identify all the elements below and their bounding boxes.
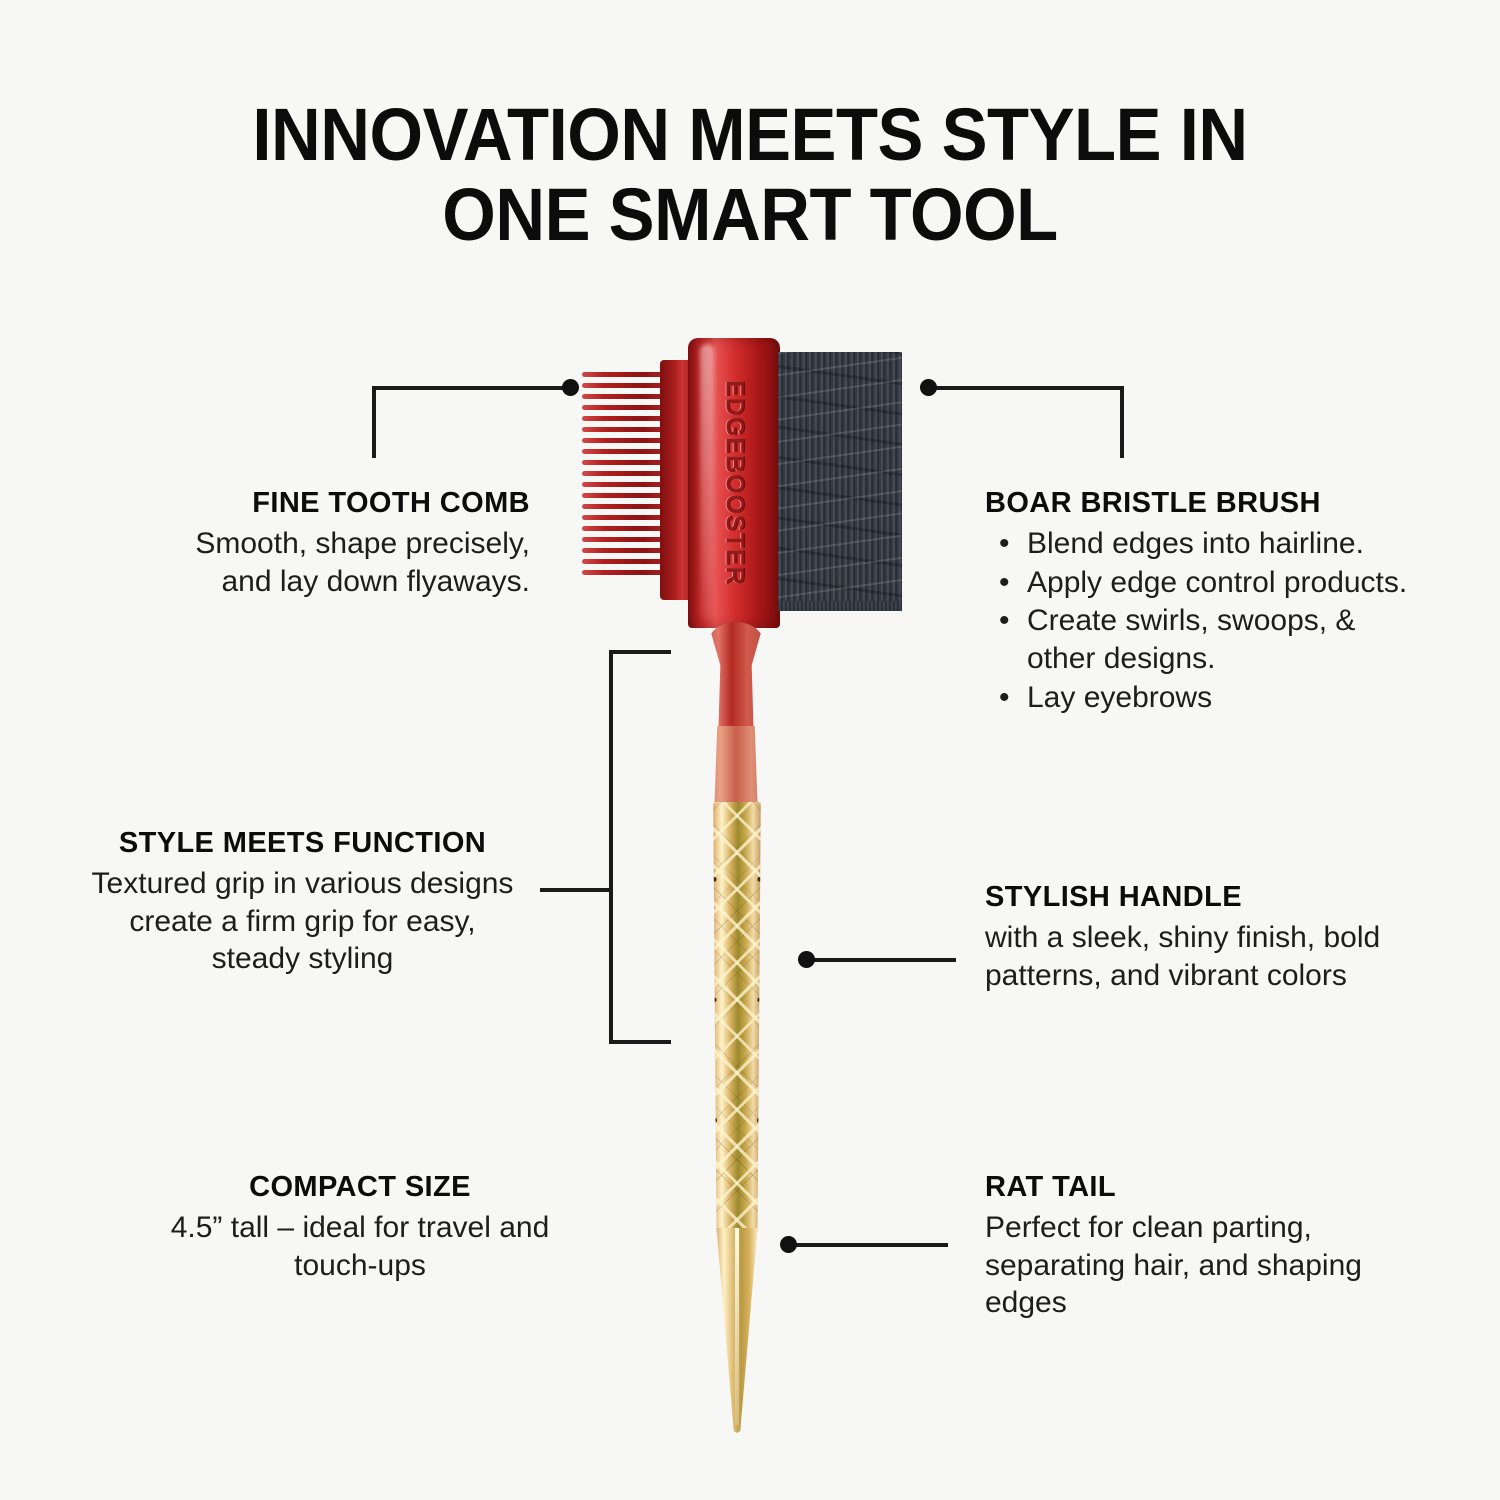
connector-line-rat-tail <box>788 1243 948 1247</box>
connector-bracket-style-function-stem <box>540 888 611 892</box>
brand-label: EDGEBOOSTER <box>720 380 749 585</box>
list-item-label: Create swirls, swoops, & other designs. <box>1027 604 1355 675</box>
handle-accent-dots <box>710 802 764 1232</box>
callout-body-rat-tail: Perfect for clean parting, separating ha… <box>985 1209 1385 1322</box>
bullet-icon: • <box>999 564 1010 602</box>
list-item: • Blend edges into hairline. <box>985 525 1425 563</box>
bullet-icon: • <box>999 679 1010 717</box>
list-item: • Lay eyebrows <box>985 679 1425 717</box>
callout-fine-tooth-comb: FINE TOOTH COMB Smooth, shape precisely,… <box>140 486 530 600</box>
connector-line-boar-bristle-vertical <box>1120 386 1124 458</box>
connector-bracket-style-function-bottom <box>609 1040 671 1044</box>
boar-bristles <box>778 352 902 607</box>
headline-line-2: ONE SMART TOOL <box>53 175 1448 255</box>
connector-bracket-style-function-top <box>609 650 671 654</box>
callout-body-compact-size: 4.5” tall – ideal for travel and touch-u… <box>160 1209 560 1285</box>
callout-style-meets-function: STYLE MEETS FUNCTION Textured grip in va… <box>85 826 520 978</box>
list-item-label: Lay eyebrows <box>1027 681 1212 714</box>
callout-title-style-meets-function: STYLE MEETS FUNCTION <box>85 826 520 861</box>
brush-body-red: EDGEBOOSTER <box>688 338 780 628</box>
callout-title-compact-size: COMPACT SIZE <box>160 1170 560 1205</box>
list-item: • Create swirls, swoops, & other designs… <box>985 602 1425 678</box>
handle-neck-upper <box>708 622 764 742</box>
page-title: INNOVATION MEETS STYLE IN ONE SMART TOOL <box>53 95 1448 255</box>
callout-title-rat-tail: RAT TAIL <box>985 1170 1385 1205</box>
callout-stylish-handle: STYLISH HANDLE with a sleek, shiny finis… <box>985 880 1385 994</box>
callout-body-style-meets-function: Textured grip in various designs create … <box>85 865 520 978</box>
connector-line-fine-tooth-comb-horizontal <box>372 386 568 390</box>
callout-title-boar-bristle-brush: BOAR BRISTLE BRUSH <box>985 486 1425 521</box>
callout-list-boar-bristle-brush: • Blend edges into hairline. • Apply edg… <box>985 525 1425 717</box>
product-image-edgebooster-brush: EDGEBOOSTER <box>560 330 960 1440</box>
infographic-canvas: INNOVATION MEETS STYLE IN ONE SMART TOOL <box>0 0 1500 1500</box>
connector-dot-boar-bristle <box>920 379 937 396</box>
callout-body-stylish-handle: with a sleek, shiny finish, bold pattern… <box>985 919 1385 995</box>
headline-line-1: INNOVATION MEETS STYLE IN <box>252 93 1247 176</box>
list-item-label: Apply edge control products. <box>1027 566 1407 599</box>
callout-title-fine-tooth-comb: FINE TOOTH COMB <box>140 486 530 521</box>
callout-title-stylish-handle: STYLISH HANDLE <box>985 880 1385 915</box>
connector-line-fine-tooth-comb-vertical <box>372 386 376 458</box>
textured-gold-handle <box>710 802 764 1232</box>
callout-boar-bristle-brush: BOAR BRISTLE BRUSH • Blend edges into ha… <box>985 486 1425 718</box>
callout-body-fine-tooth-comb: Smooth, shape precisely, and lay down fl… <box>140 525 530 601</box>
callout-compact-size: COMPACT SIZE 4.5” tall – ideal for trave… <box>160 1170 560 1284</box>
connector-bracket-style-function-vertical <box>609 650 613 1044</box>
bullet-icon: • <box>999 602 1010 640</box>
callout-rat-tail: RAT TAIL Perfect for clean parting, sepa… <box>985 1170 1385 1322</box>
list-item: • Apply edge control products. <box>985 564 1425 602</box>
connector-dot-stylish-handle <box>798 951 815 968</box>
connector-line-boar-bristle-horizontal <box>928 386 1124 390</box>
connector-line-stylish-handle <box>806 958 956 962</box>
rat-tail-tip <box>710 1228 764 1433</box>
handle-neck-lower <box>710 726 762 812</box>
bullet-icon: • <box>999 525 1010 563</box>
list-item-label: Blend edges into hairline. <box>1027 527 1364 560</box>
connector-dot-rat-tail <box>780 1236 797 1253</box>
connector-dot-fine-tooth-comb <box>562 379 579 396</box>
